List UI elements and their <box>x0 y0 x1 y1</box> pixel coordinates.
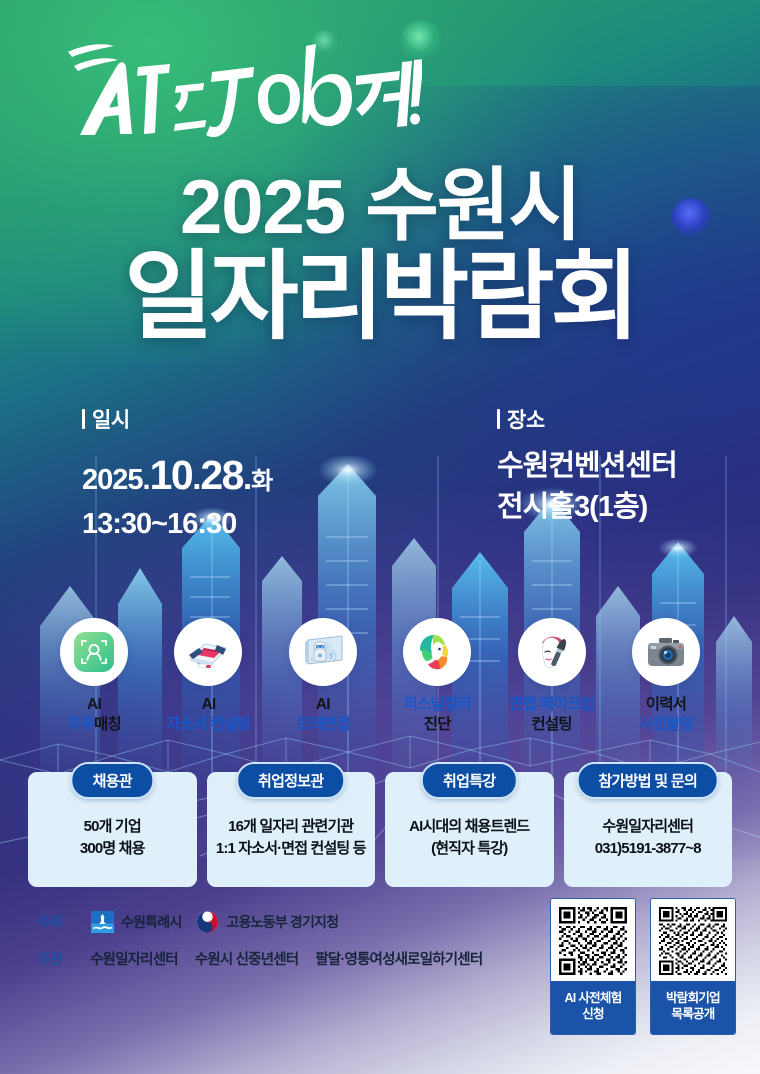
event-date-block: 일시 2025.10.28.화 13:30~16:30 <box>82 404 272 545</box>
event-date-month: 10 <box>150 452 193 498</box>
resume-consulting-icon <box>174 618 242 686</box>
host-item-moel: 고용노동부 경기지청 <box>195 910 338 934</box>
event-place-heading: 장소 <box>497 404 677 434</box>
title-city: 수원시 <box>365 161 580 250</box>
info-box-tag: 참가방법 및 문의 <box>576 762 719 799</box>
info-box-body-line1: 50개 기업 <box>80 816 145 838</box>
program-caption-line2: 컨설팅 <box>502 715 602 735</box>
program-icons-row: AI 직무매칭 AI 자소서 <box>0 618 760 748</box>
qr-card-company-list[interactable]: 박람회기업 목록공개 <box>650 898 736 1035</box>
event-date-day: 28 <box>200 452 243 498</box>
info-box-body-line2: 031)5191-3877~8 <box>595 838 701 860</box>
program-caption-line1: AI <box>44 695 144 715</box>
program-caption-line2: 사진촬영 <box>616 715 716 735</box>
host-label: 주최 <box>38 912 90 932</box>
host-line: 주최 수원특례시 <box>38 910 482 934</box>
organizer-items: 수원일자리센터 수원시 신중년센터 팔달·영통여성새로일하기센터 <box>90 948 482 969</box>
info-box-participation-contact: 참가방법 및 문의 수원일자리센터 031)5191-3877~8 <box>564 772 733 887</box>
qr-code-image-ai-pre-experience <box>551 899 635 981</box>
event-place-heading-label: 장소 <box>507 404 545 434</box>
program-caption-line1: 이력서 <box>616 695 716 715</box>
title-line-1: 2025 수원시 <box>0 166 760 246</box>
info-box-body-line2: (현직자 특강) <box>409 838 529 860</box>
event-venue-value: 수원컨벤션센터 <box>497 446 677 487</box>
host-items: 수원특례시 고용노동부 경기지청 <box>90 910 338 934</box>
organizer-name: 수원일자리센터 <box>90 948 178 969</box>
info-box-body-line1: 16개 일자리 관련기관 <box>216 816 366 838</box>
poster-title: 2025 수원시 일자리박람회 <box>0 166 760 345</box>
qr-cards-row: AI 사전체험 신청 <box>550 898 736 1035</box>
organizer-name: 수원시 신중년센터 <box>195 948 299 969</box>
info-box-body: 수원일자리센터 031)5191-3877~8 <box>595 800 701 860</box>
program-item-ai-job-matching[interactable]: AI 직무매칭 <box>44 618 144 748</box>
host-item-suwon: 수원특례시 <box>90 910 181 934</box>
info-box-tag: 채용관 <box>71 762 154 799</box>
event-hall-value: 전시홀3(1층) <box>497 487 677 528</box>
event-date-value: 2025.10.28.화 <box>82 446 272 504</box>
qr-card-label: 박람회기업 목록공개 <box>651 981 735 1034</box>
ai-job-matching-icon <box>60 618 128 686</box>
personal-color-icon <box>403 618 471 686</box>
suwon-city-logo <box>90 910 115 934</box>
program-item-interview-makeup[interactable]: 면접 메이크업 컨설팅 <box>502 618 602 748</box>
qr-card-label: AI 사전체험 신청 <box>551 981 635 1034</box>
event-time-value: 13:30~16:30 <box>82 504 272 545</box>
qr-label-line2: 목록공개 <box>653 1006 733 1022</box>
program-caption-interview-makeup: 면접 메이크업 컨설팅 <box>502 695 602 734</box>
info-box-tag: 취업특강 <box>421 762 517 799</box>
info-box-recruitment: 채용관 50개 기업 300명 채용 <box>28 772 197 887</box>
qr-code-image-company-list <box>651 899 735 981</box>
program-caption-line2: 자소서 컨설팅 <box>158 715 258 735</box>
event-date-heading-label: 일시 <box>92 404 130 434</box>
organizer-label: 주관 <box>38 949 90 969</box>
organizer-name: 팔달·영통여성새로일하기센터 <box>315 948 482 969</box>
program-caption-resume-photo: 이력서 사진촬영 <box>616 695 716 734</box>
program-item-resume-photo[interactable]: 이력서 사진촬영 <box>616 618 716 748</box>
program-caption-personal-color: 퍼스널컬러 진단 <box>387 695 487 734</box>
organizer-line: 주관 수원일자리센터 수원시 신중년센터 팔달·영통여성새로일하기센터 <box>38 948 482 969</box>
program-caption-line1: AI <box>158 695 258 715</box>
qr-label-line1: AI 사전체험 <box>553 990 633 1006</box>
poster-root: 2025 수원시 일자리박람회 일시 2025.10.28.화 13:30~16… <box>0 0 760 1074</box>
info-box-job-information: 취업정보관 16개 일자리 관련기관 1:1 자소서·면접 컨설팅 등 <box>207 772 376 887</box>
event-place-block: 장소 수원컨벤션센터 전시홀3(1층) <box>497 404 677 528</box>
event-date-dot-2: . <box>243 459 251 496</box>
info-box-body-line1: AI시대의 채용트렌드 <box>409 816 529 838</box>
resume-photo-camera-icon <box>632 618 700 686</box>
ministry-of-employment-labor-logo <box>195 910 220 934</box>
qr-label-line1: 박람회기업 <box>653 990 733 1006</box>
mock-interview-robot-icon <box>289 618 357 686</box>
program-caption-line2: 모의면접 <box>273 715 373 735</box>
event-info-row: 일시 2025.10.28.화 13:30~16:30 장소 수원컨벤션센터 전… <box>0 404 760 554</box>
info-box-body-line2: 1:1 자소서·면접 컨설팅 등 <box>216 838 366 860</box>
heading-bar-icon <box>82 409 85 429</box>
qr-label-line2: 신청 <box>553 1006 633 1022</box>
host-name: 수원특례시 <box>121 912 181 932</box>
program-caption-line2: 진단 <box>387 715 487 735</box>
program-caption-mock-interview: AI 모의면접 <box>273 695 373 734</box>
info-box-body: 50개 기업 300명 채용 <box>80 800 145 860</box>
program-item-resume-consulting[interactable]: AI 자소서 컨설팅 <box>158 618 258 748</box>
program-caption-line1: 면접 메이크업 <box>502 695 602 715</box>
info-box-body: AI시대의 채용트렌드 (현직자 특강) <box>409 800 529 860</box>
poster-footer: 주최 수원특례시 <box>0 888 760 1074</box>
info-box-special-lecture: 취업특강 AI시대의 채용트렌드 (현직자 특강) <box>385 772 554 887</box>
event-date-weekday: 화 <box>251 468 272 495</box>
title-year: 2025 <box>180 165 345 250</box>
interview-makeup-icon <box>518 618 586 686</box>
program-caption-line1: AI <box>273 695 373 715</box>
organizers-block: 주최 수원특례시 <box>38 910 482 983</box>
event-date-year: 2025. <box>82 464 150 496</box>
info-box-tag: 취업정보관 <box>236 762 346 799</box>
tagline-handwritten <box>62 36 422 144</box>
info-box-body-line2: 300명 채용 <box>80 838 145 860</box>
program-caption-line1: 퍼스널컬러 <box>387 695 487 715</box>
program-item-mock-interview[interactable]: AI 모의면접 <box>273 618 373 748</box>
program-caption-ai-job-matching: AI 직무매칭 <box>44 695 144 734</box>
program-caption-resume-consulting: AI 자소서 컨설팅 <box>158 695 258 734</box>
program-caption-line2: 직무매칭 <box>44 715 144 735</box>
program-item-personal-color[interactable]: 퍼스널컬러 진단 <box>387 618 487 748</box>
info-box-body-line1: 수원일자리센터 <box>595 816 701 838</box>
heading-bar-icon <box>497 409 500 429</box>
info-boxes-row: 채용관 50개 기업 300명 채용 취업정보관 16개 일자리 관련기관 1:… <box>28 772 732 887</box>
title-line-2: 일자리박람회 <box>0 248 760 345</box>
info-box-body: 16개 일자리 관련기관 1:1 자소서·면접 컨설팅 등 <box>216 800 366 860</box>
event-date-heading: 일시 <box>82 404 272 434</box>
qr-card-ai-pre-experience[interactable]: AI 사전체험 신청 <box>550 898 636 1035</box>
host-name: 고용노동부 경기지청 <box>226 912 338 932</box>
